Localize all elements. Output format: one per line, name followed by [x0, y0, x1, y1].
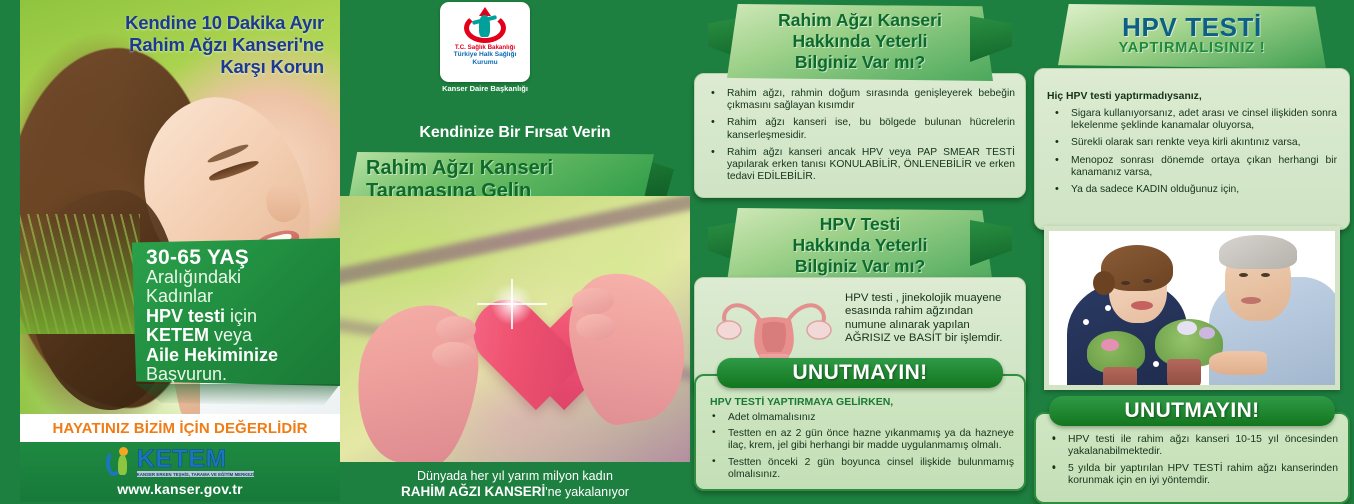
hpv-indications-list: Sigara kullanıyorsanız, adet arası ve ci… [1047, 108, 1337, 196]
flower-pot-left [1103, 367, 1137, 390]
callout-line-4: HPV testi için [146, 307, 332, 327]
age-callout-box: 30-65 YAŞ Aralığındaki Kadınlar HPV test… [132, 238, 340, 386]
ketem-wordmark: KETEM KANSER ERKEN TEŞHİS, TARAMA VE EĞİ… [137, 447, 255, 477]
list-item-text: Testten en az 2 gün önce hazne yıkanmamı… [728, 428, 1014, 451]
caption-rest-part: 'ne yakalanıyor [545, 485, 629, 499]
woman-smile [1131, 301, 1153, 310]
hpv-test-description: HPV testi , jinekolojik muayene esasında… [845, 292, 1015, 346]
list-item: •Adet olmamalısınız [704, 412, 1014, 424]
woman-eye [1143, 279, 1152, 283]
panel-hpv-test-call: HPV TESTİ YAPTIRMALISINIZ ! Hiç HPV test… [1030, 0, 1354, 502]
reminder-wrap-2: UNUTMAYIN! •HPV testi ile rahim ağzı kan… [1034, 396, 1350, 504]
heart-hands-photo [340, 196, 690, 462]
cervical-cancer-card: Rahim ağzı, rahmin doğum sırasında geniş… [694, 73, 1026, 198]
callout-fold-shadow [132, 384, 340, 406]
finger-shape-1 [436, 316, 476, 342]
ribbon1-line-1: Rahim Ağzı Kanseri [731, 10, 989, 31]
reminder-block-panel4: UNUTMAYIN! •HPV testi ile rahim ağzı kan… [1034, 396, 1350, 504]
caption-line-1: Dünyada her yıl yarım milyon kadın [340, 468, 690, 484]
ribbon-2-wrap: HPV Testi Hakkında Yeterli Bilginiz Var … [694, 208, 1026, 285]
caption-bold-part: RAHİM AĞZI KANSERİ [401, 484, 545, 499]
panel2-subtitle: Kendinize Bir Fırsat Verin [340, 124, 690, 142]
dress-dot [1083, 319, 1089, 325]
ribbon1-line-3: Bilginiz Var mı? [731, 52, 989, 73]
list-item: Menopoz sonrası dönemde ortaya çıkan her… [1047, 155, 1337, 179]
title-line-3: Karşı Korun [20, 56, 324, 78]
title-line-2: Rahim Ağzı Kanseri'ne [20, 34, 324, 56]
finger-shape-3 [572, 288, 614, 314]
ketem-name: KETEM [137, 447, 255, 471]
list-item-text: HPV testi ile rahim ağzı kanseri 10-15 y… [1068, 434, 1338, 457]
ribbon1-line-2: Hakkında Yeterli [731, 31, 989, 52]
cervical-cancer-info-block: Rahim Ağzı Kanseri Hakkında Yeterli Bilg… [694, 4, 1026, 198]
reminder-wrap: UNUTMAYIN! HPV TESTİ YAPTIRMAYA GELİRKEN… [694, 358, 1026, 491]
ministry-line-3: Kurumu [472, 59, 497, 67]
callout-line-6: Aile Hekiminize [146, 346, 332, 366]
hpv-indications-lead: Hiç HPV testi yaptırmadıysanız, [1047, 91, 1337, 102]
ribbon-hpv-test: HPV Testi Hakkında Yeterli Bilginiz Var … [727, 208, 993, 285]
banner-line-1: Rahim Ağzı Kanseri [366, 157, 654, 180]
finger-shape-2 [432, 342, 476, 368]
list-item: Ya da sadece KADIN olduğunuz için, [1047, 184, 1337, 196]
caption-line-2: RAHİM AĞZI KANSERİ'ne yakalanıyor [340, 484, 690, 500]
heart-sparkle [488, 280, 536, 328]
list-item-text: Testten önceki 2 gün boyunca cinsel iliş… [728, 457, 1014, 480]
finger-shape-4 [576, 314, 616, 340]
ketem-footer: KETEM KANSER ERKEN TEŞHİS, TARAMA VE EĞİ… [20, 442, 340, 502]
list-item-text: 5 yılda bir yaptırılan HPV TESTİ rahim a… [1068, 463, 1338, 486]
flower-pot-right [1167, 359, 1201, 389]
panel1-slogan-bar: HAYATINIZ BİZİM İÇİN DEĞERLİDİR [20, 414, 340, 442]
reminder-heading-pill-2: UNUTMAYIN! [1049, 396, 1335, 426]
hpv-ribbon-line-2: YAPTIRMALISINIZ ! [1062, 40, 1322, 57]
man-eye [1261, 273, 1270, 277]
callout-line-3: Kadınlar [146, 287, 332, 307]
man-smile [1241, 297, 1261, 304]
hpv-indications-card: Hiç HPV testi yaptırmadıysanız, Sigara k… [1034, 68, 1350, 230]
callout-line-2: Aralığındaki [146, 268, 332, 288]
ministry-emblem-icon [462, 7, 508, 43]
reminder-heading-text: UNUTMAYIN! [792, 361, 927, 385]
ribbon2-line-2: Hakkında Yeterli [731, 235, 989, 256]
ministry-department-caption: Kanser Daire Başkanlığı [440, 84, 530, 93]
ketem-figure-icon [106, 447, 134, 477]
ribbon2-line-3: Bilginiz Var mı? [731, 256, 989, 277]
ministry-line-1: T.C. Sağlık Bakanlığı [455, 44, 515, 51]
panel-screening-invite: T.C. Sağlık Bakanlığı Türkiye Halk Sağlı… [340, 0, 690, 502]
reminder-bullet-list-2: •HPV testi ile rahim ağzı kanseri 10-15 … [1044, 434, 1338, 488]
panel-information: Rahim Ağzı Kanseri Hakkında Yeterli Bilg… [690, 0, 1030, 502]
title-line-1: Kendine 10 Dakika Ayır [20, 12, 324, 34]
reminder-heading-text-2: UNUTMAYIN! [1124, 399, 1259, 423]
reminder-block-panel3: UNUTMAYIN! HPV TESTİ YAPTIRMAYA GELİRKEN… [694, 358, 1026, 491]
callout-hpv-bold: HPV testi [146, 306, 225, 326]
callout-line-4-rest: için [225, 306, 257, 326]
list-item: •Testten önceki 2 gün boyunca cinsel ili… [704, 457, 1014, 481]
violet-flower [1177, 321, 1197, 335]
callout-age-range: 30-65 YAŞ [146, 248, 332, 268]
panel2-caption: Dünyada her yıl yarım milyon kadın RAHİM… [340, 464, 690, 500]
ketem-website-url[interactable]: www.kanser.gov.tr [117, 481, 243, 497]
list-item: Rahim ağzı kanseri ancak HPV veya PAP SM… [705, 147, 1015, 184]
brochure-root: Kendine 10 Dakika Ayır Rahim Ağzı Kanser… [0, 0, 1354, 502]
reminder-heading-pill: UNUTMAYIN! [717, 358, 1003, 388]
list-item: •HPV testi ile rahim ağzı kanseri 10-15 … [1044, 434, 1338, 459]
hpv-test-ribbon: HPV TESTİ YAPTIRMALISINIZ ! [1058, 4, 1326, 69]
list-item: •Testten en az 2 gün önce hazne yıkanmam… [704, 428, 1014, 452]
dress-dot [1105, 305, 1111, 311]
man-eye [1239, 273, 1248, 277]
list-item: Sürekli olarak sarı renkte veya kirli ak… [1047, 137, 1337, 149]
list-item: Sigara kullanıyorsanız, adet arası ve ci… [1047, 108, 1337, 132]
panel1-card: Kendine 10 Dakika Ayır Rahim Ağzı Kanser… [20, 0, 340, 502]
ribbon2-line-1: HPV Testi [731, 214, 989, 235]
list-item: Rahim ağzı, rahmin doğum sırasında geniş… [705, 88, 1015, 112]
violet-flower [1101, 339, 1119, 351]
elderly-couple-photo [1044, 226, 1340, 390]
callout-line-5: KETEM veya [146, 326, 332, 346]
panel1-title: Kendine 10 Dakika Ayır Rahim Ağzı Kanser… [20, 0, 340, 96]
list-item-text: Adet olmamalısınız [728, 412, 816, 423]
ketem-subtitle: KANSER ERKEN TEŞHİS, TARAMA VE EĞİTİM ME… [137, 471, 255, 477]
callout-ketem-bold: KETEM [146, 325, 209, 345]
man-arm-shape [1209, 351, 1267, 375]
hpv-ribbon-line-1: HPV TESTİ [1062, 14, 1322, 40]
reminder-lead-text: HPV TESTİ YAPTIRMAYA GELİRKEN, [710, 396, 1014, 408]
man-hair-shape [1219, 235, 1297, 269]
ministry-logo: T.C. Sağlık Bakanlığı Türkiye Halk Sağlı… [440, 2, 530, 82]
callout-line-5-rest: veya [209, 325, 252, 345]
callout-line-7: Başvurun. [146, 365, 332, 385]
panel-prevention: Kendine 10 Dakika Ayır Rahim Ağzı Kanser… [0, 0, 340, 502]
grass-foreground [20, 214, 140, 334]
woman-bun-shape [1093, 271, 1115, 295]
list-item: •5 yılda bir yaptırılan HPV TESTİ rahim … [1044, 463, 1338, 488]
ribbon-1-wrap: Rahim Ağzı Kanseri Hakkında Yeterli Bilg… [694, 4, 1026, 81]
reminder-body: HPV TESTİ YAPTIRMAYA GELİRKEN, •Adet olm… [694, 374, 1026, 491]
panel1-slogan-text: HAYATINIZ BİZİM İÇİN DEĞERLİDİR [52, 420, 307, 437]
ketem-logo: KETEM KANSER ERKEN TEŞHİS, TARAMA VE EĞİ… [106, 447, 255, 477]
cervical-bullet-list: Rahim ağzı, rahmin doğum sırasında geniş… [705, 88, 1015, 183]
ribbon-cervical-cancer: Rahim Ağzı Kanseri Hakkında Yeterli Bilg… [727, 4, 993, 81]
woman-eye [1121, 281, 1130, 285]
violet-flower [1199, 327, 1215, 339]
dress-dot [1153, 361, 1159, 367]
reminder-bullet-list: •Adet olmamalısınız •Testten en az 2 gün… [704, 412, 1014, 481]
list-item: Rahim ağzı kanseri ise, bu bölgede bulun… [705, 117, 1015, 141]
ministry-line-2: Türkiye Halk Sağlığı [454, 51, 517, 59]
